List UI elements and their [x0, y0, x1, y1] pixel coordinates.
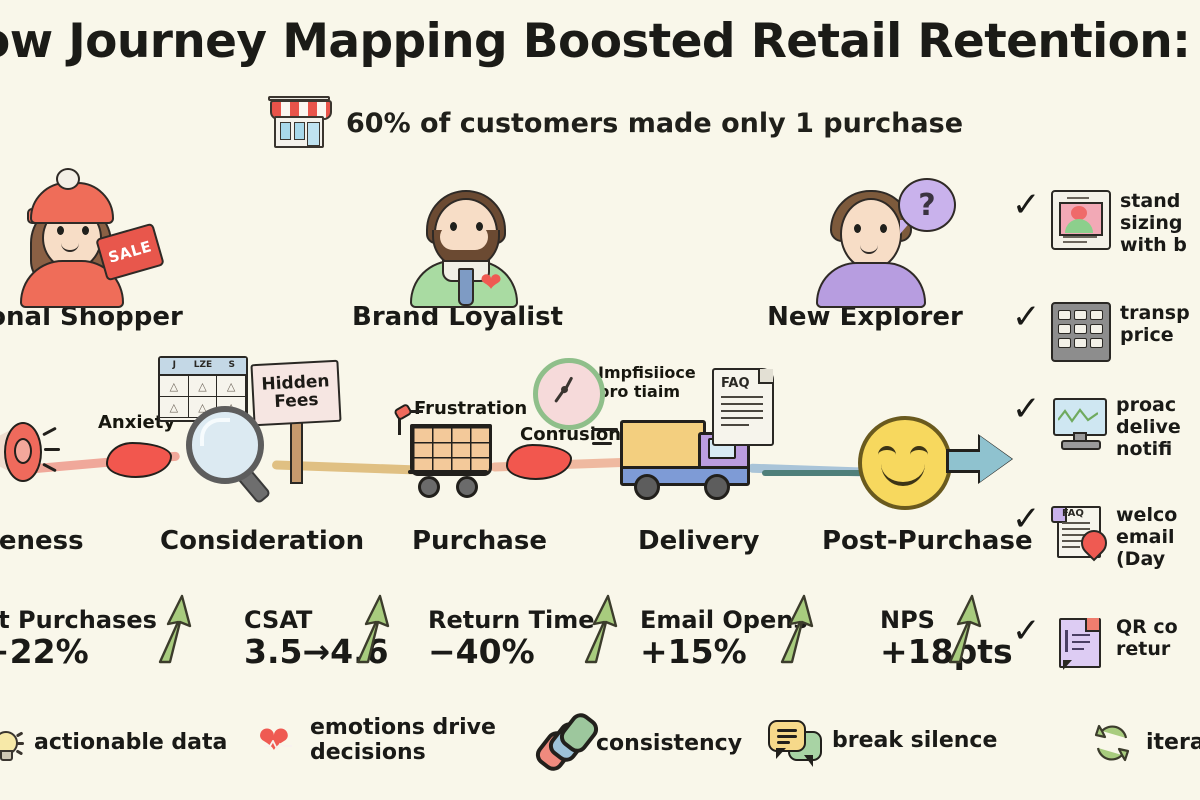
qr-return-doc-icon	[1051, 616, 1107, 672]
fix-item-transparent-pricing: ✓ transp price	[1012, 302, 1200, 362]
takeaways-row: actionable data ❤ emotions drive decisio…	[0, 698, 1200, 794]
outcome-arrow-icon	[946, 436, 1012, 482]
size-chart-col-2: LZE	[189, 358, 218, 374]
lightbulb-icon	[0, 726, 22, 760]
takeaway-emotions-drive-decisions: ❤ emotions drive decisions	[258, 716, 496, 765]
magnifier-icon	[186, 406, 282, 502]
fix-text: proac delive notifi	[1116, 394, 1200, 460]
size-chart-col-3: S	[217, 358, 246, 374]
takeaway-label: break silence	[832, 729, 997, 754]
metric-value: −40%	[428, 632, 594, 671]
takeaway-label: consistency	[596, 732, 742, 757]
stage-label-purchase: Purchase	[412, 526, 547, 556]
fix-text: welco email (Day	[1116, 504, 1200, 570]
stage-label-consideration: Consideration	[160, 526, 364, 556]
calculator-icon	[1051, 302, 1111, 362]
takeaway-label: emotions drive decisions	[310, 716, 496, 765]
check-icon: ✓	[1012, 394, 1042, 425]
takeaway-actionable-data: actionable data	[0, 726, 227, 760]
subtitle-row: 60% of customers made only 1 purchase	[268, 92, 963, 154]
bearded-man-avatar: ❤	[382, 168, 532, 298]
megaphone-icon	[0, 420, 62, 482]
metric-repeat-purchases: at Purchases +22%	[0, 606, 157, 671]
fix-item-qr-code-returns: ✓ QR co retur	[1012, 616, 1200, 672]
check-icon: ✓	[1012, 504, 1042, 535]
woman-winter-hat-avatar: SALE	[0, 168, 144, 298]
up-arrow-icon	[772, 592, 818, 664]
metric-value: +22%	[0, 632, 157, 671]
young-man-question-avatar: ?	[790, 168, 940, 298]
fix-text: transp price	[1120, 302, 1200, 346]
heartbeat-icon: ❤	[258, 723, 298, 759]
check-icon: ✓	[1012, 616, 1042, 647]
faq-document-icon: FAQ	[712, 368, 774, 446]
page-title: ow Journey Mapping Boosted Retail Retent…	[0, 14, 1200, 69]
clock-icon	[533, 358, 605, 430]
faq-label: FAQ	[721, 376, 750, 391]
pain-burst-anxiety	[106, 442, 172, 478]
up-arrow-icon	[576, 592, 622, 664]
metric-name: at Purchases	[0, 606, 157, 634]
pain-burst-frustration	[506, 444, 572, 480]
takeaway-break-silence: break silence	[768, 720, 997, 762]
fix-text: QR co retur	[1116, 616, 1200, 660]
metric-name: Return Time	[428, 606, 594, 634]
metric-return-time: Return Time −40%	[428, 606, 594, 671]
fix-text: stand sizing with b	[1120, 190, 1200, 256]
phone-profile-icon	[1051, 190, 1111, 250]
up-arrow-icon	[348, 592, 394, 664]
takeaway-consistency: consistency	[540, 724, 742, 764]
question-bubble-icon: ?	[898, 178, 956, 232]
faq-doc-pin-icon: FAQ	[1051, 504, 1107, 560]
stage-label-awareness: reness	[0, 526, 84, 556]
stage-label-delivery: Delivery	[638, 526, 759, 556]
stage-label-postpurchase: Post-Purchase	[822, 526, 1033, 556]
takeaway-label: itera	[1146, 731, 1200, 756]
takeaway-label: actionable data	[34, 731, 227, 756]
check-icon: ✓	[1012, 190, 1042, 221]
flow-line-postpurchase	[762, 470, 872, 476]
persona-new-explorer: ? New Explorer	[760, 168, 970, 332]
persona-brand-loyalist: ❤ Brand Loyalist	[352, 168, 562, 332]
speech-bubbles-icon	[768, 720, 820, 762]
up-arrow-icon	[940, 592, 986, 664]
storefront-icon	[268, 92, 330, 154]
up-arrow-icon	[150, 592, 196, 664]
size-chart-col-1: J	[160, 358, 189, 374]
fix-item-standardized-sizing: ✓ stand sizing with b	[1012, 190, 1200, 256]
shopping-cart-icon	[398, 410, 508, 502]
fix-item-proactive-delivery-notifications: ✓ proac delive notifi	[1012, 394, 1200, 460]
heart-icon: ❤	[478, 272, 504, 296]
fix-item-welcome-email: ✓ FAQ welco email (Day	[1012, 504, 1200, 570]
persona-seasonal-shopper: SALE asonal Shopper	[0, 168, 184, 332]
monitor-chart-icon	[1051, 394, 1107, 450]
clock-note-text: Impfisiioce bro tiaim	[598, 364, 696, 402]
chain-link-icon	[540, 724, 584, 764]
takeaway-iterate: itera	[1090, 722, 1200, 764]
smiley-face-icon	[858, 416, 952, 510]
recycle-arrows-icon	[1090, 722, 1134, 764]
subtitle-text: 60% of customers made only 1 purchase	[346, 108, 963, 139]
check-icon: ✓	[1012, 302, 1042, 333]
